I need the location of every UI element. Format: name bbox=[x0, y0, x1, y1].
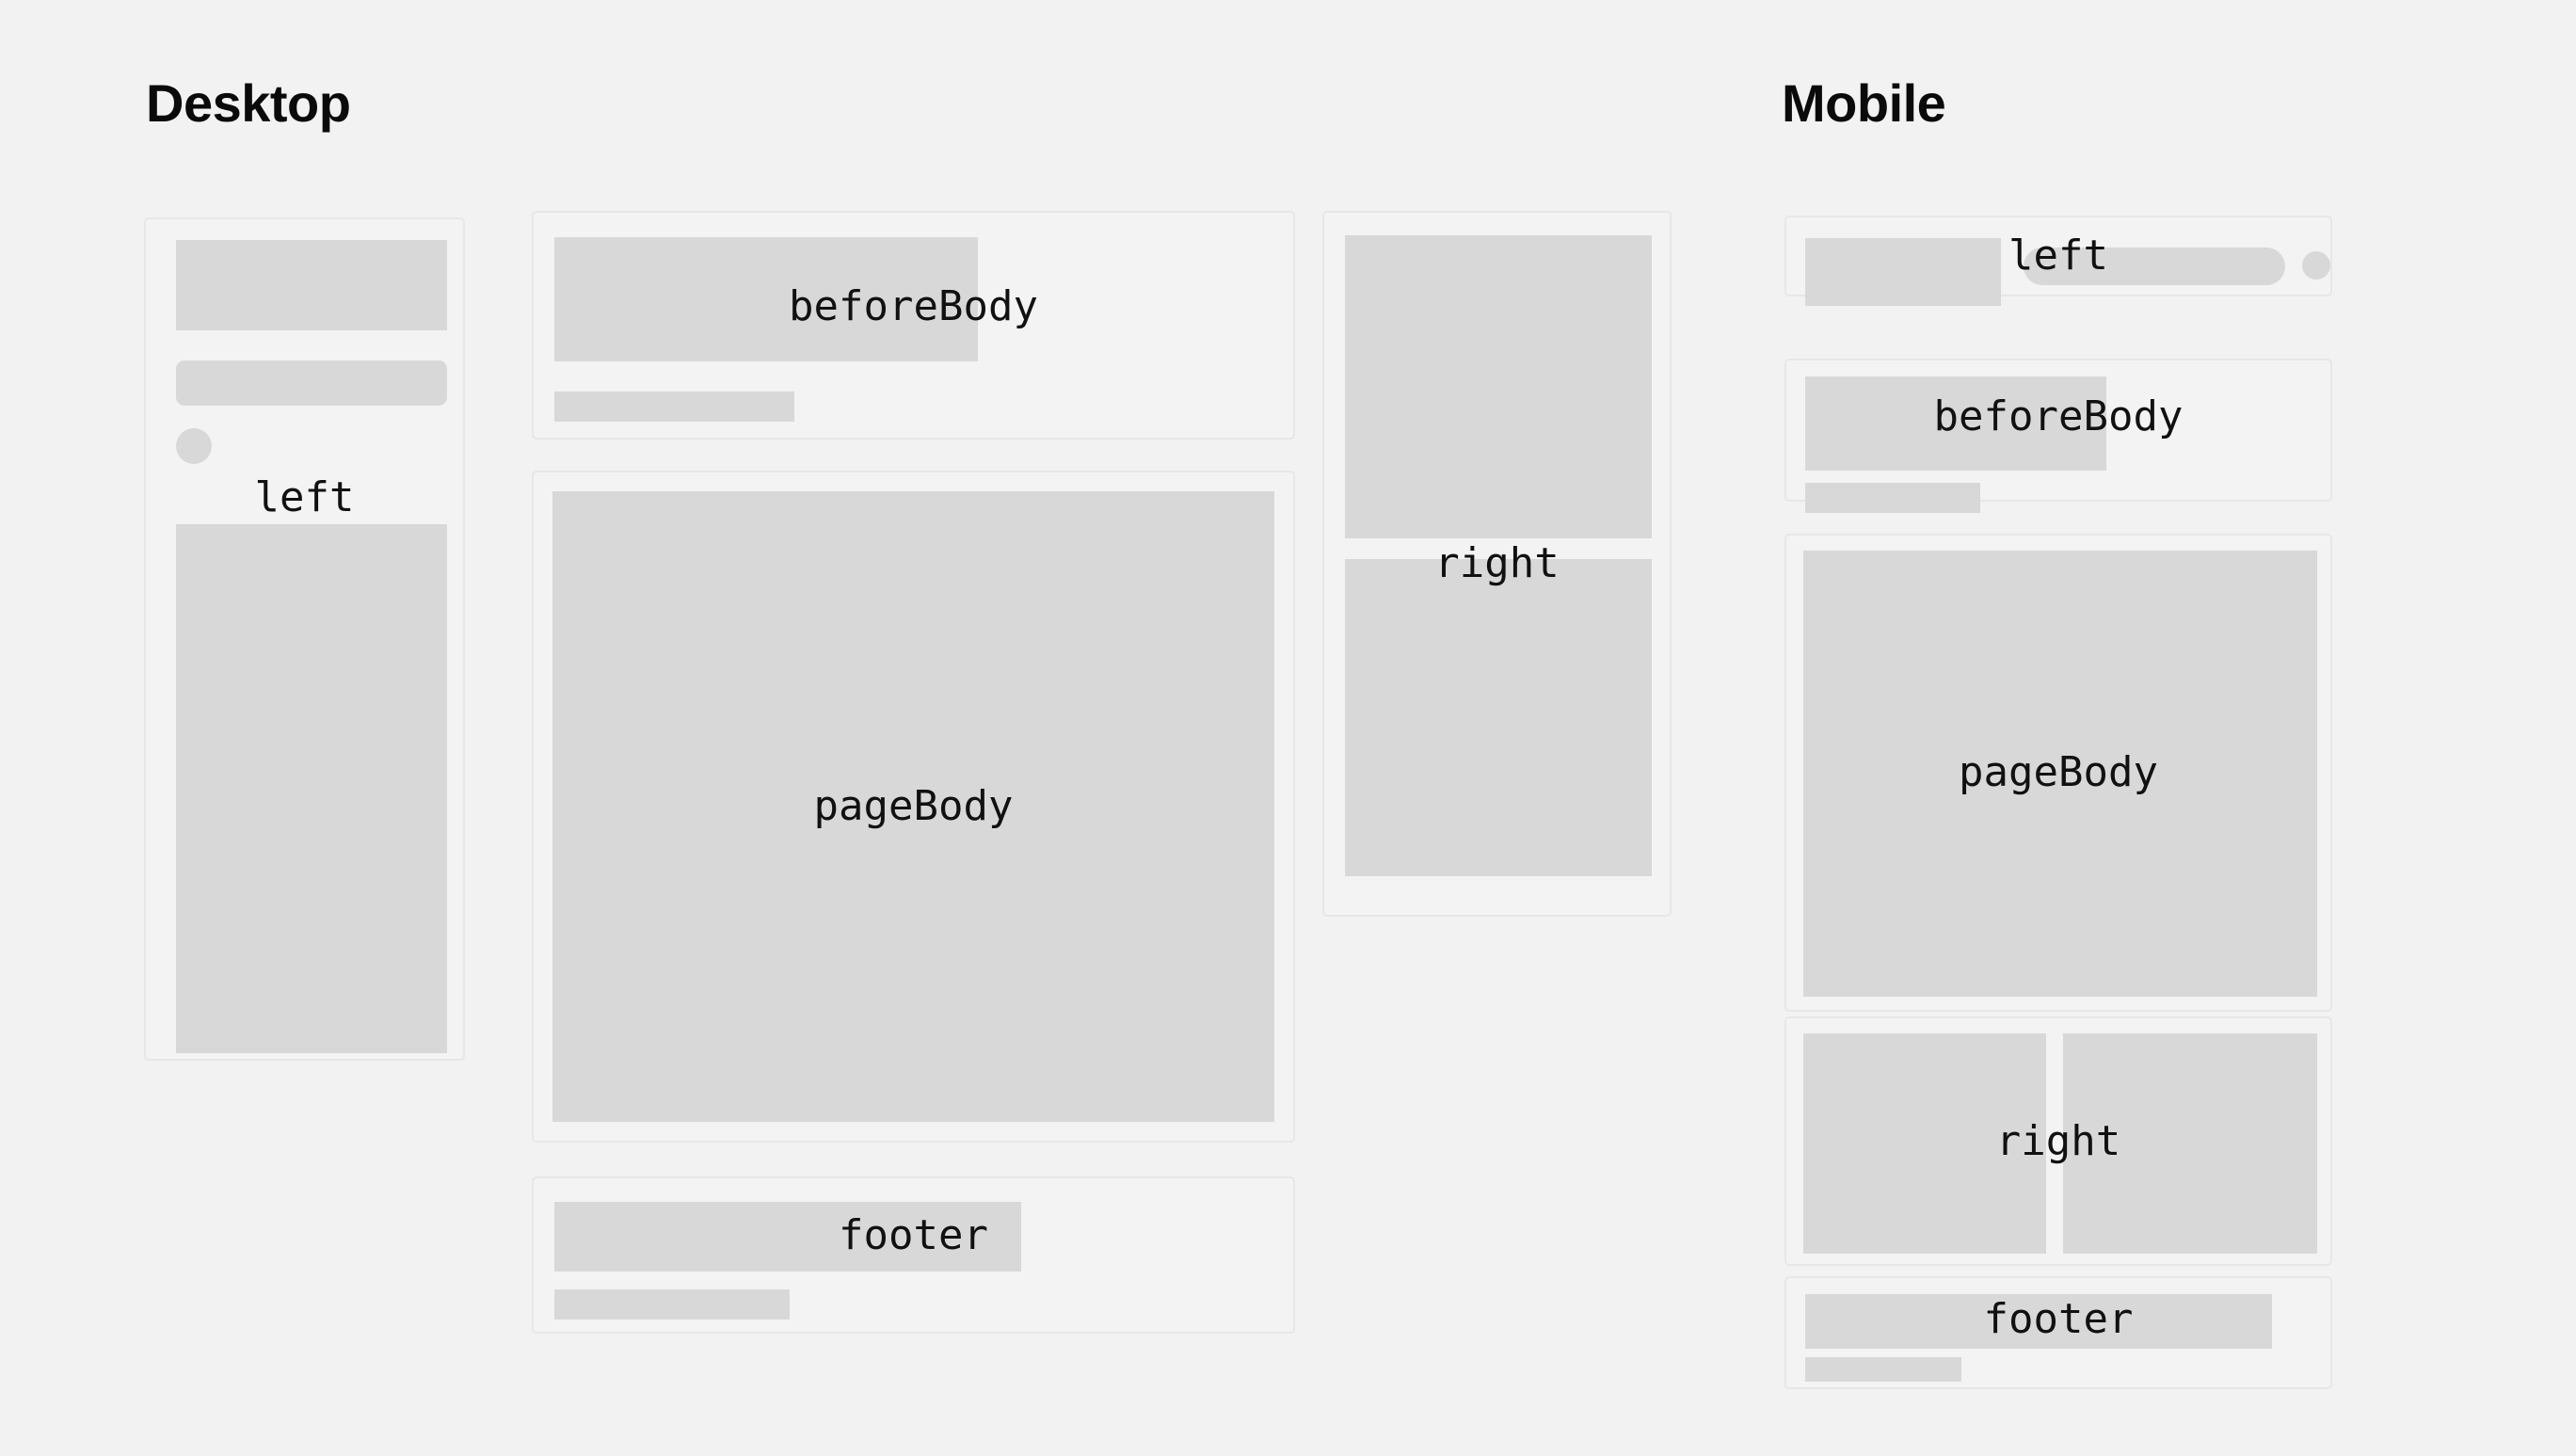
desktop-left-slot-label: left bbox=[144, 217, 465, 1061]
layout-preview-stage: Desktop Mobile left beforeBody pageBody … bbox=[0, 0, 2576, 1456]
desktop-column-title: Desktop bbox=[146, 77, 350, 130]
mobile-column-title: Mobile bbox=[1782, 77, 1945, 130]
desktop-right-slot-label: right bbox=[1322, 211, 1672, 917]
desktop-page-body-slot-label: pageBody bbox=[532, 471, 1295, 1143]
desktop-before-body-slot-label: beforeBody bbox=[532, 211, 1295, 440]
mobile-footer-slot-label: footer bbox=[1784, 1276, 2332, 1389]
mobile-page-body-slot-label: pageBody bbox=[1784, 534, 2332, 1012]
mobile-before-body-slot-label: beforeBody bbox=[1784, 359, 2332, 502]
mobile-left-slot-label: left bbox=[1784, 216, 2332, 296]
mobile-right-slot-label: right bbox=[1784, 1016, 2332, 1266]
desktop-footer-slot-label: footer bbox=[532, 1176, 1295, 1334]
